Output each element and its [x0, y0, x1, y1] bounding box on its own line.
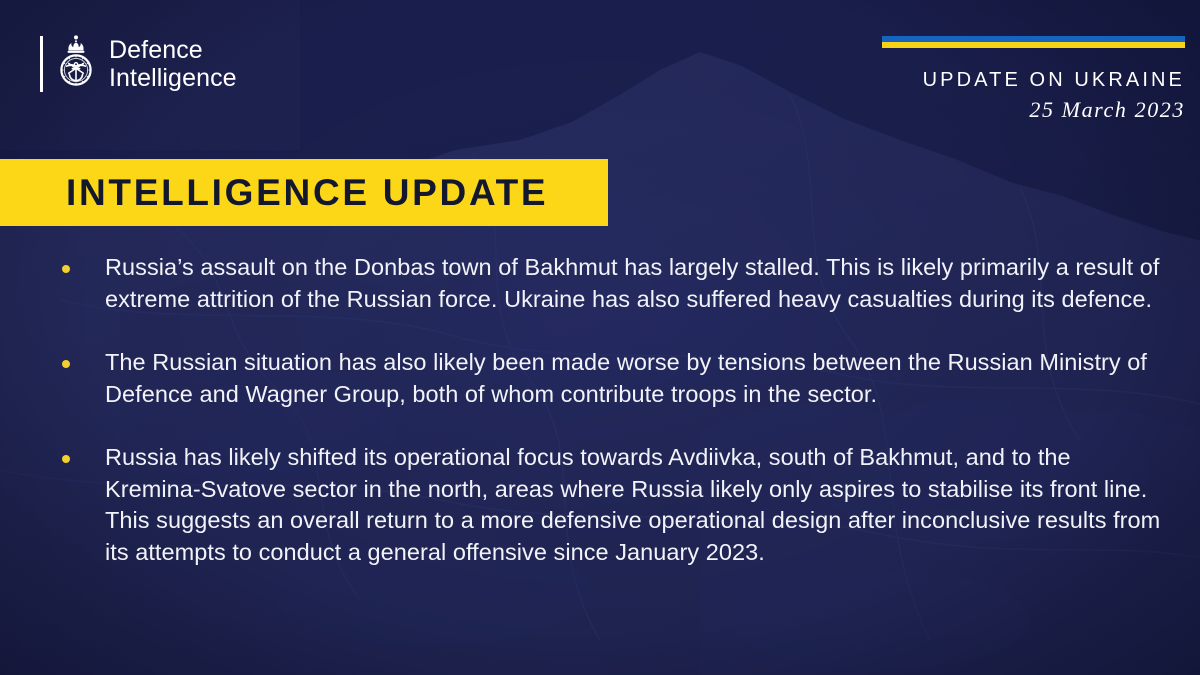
update-on-ukraine-title: UPDATE ON UKRAINE: [882, 68, 1185, 93]
header-right-block: UPDATE ON UKRAINE 25 March 2023: [882, 36, 1185, 125]
bullet-text: The Russian situation has also likely be…: [105, 347, 1168, 410]
list-item: Russia has likely shifted its operationa…: [62, 442, 1168, 568]
logo-wordmark: Defence Intelligence: [109, 36, 237, 93]
update-date: 25 March 2023: [882, 96, 1185, 125]
bullet-text: Russia has likely shifted its operationa…: [105, 442, 1168, 568]
bullet-text: Russia’s assault on the Donbas town of B…: [105, 252, 1168, 315]
logo-line-defence: Defence: [109, 36, 237, 64]
bullet-dot-icon: [62, 265, 70, 273]
list-item: Russia’s assault on the Donbas town of B…: [62, 252, 1168, 315]
bullet-dot-icon: [62, 360, 70, 368]
intelligence-update-banner: INTELLIGENCE UPDATE: [0, 159, 608, 226]
logo-line-intelligence: Intelligence: [109, 64, 237, 92]
ukraine-flag-bar: [882, 36, 1185, 48]
logo-divider-rule: [40, 36, 43, 92]
flag-stripe-yellow: [882, 42, 1185, 48]
poster-header: Defence Intelligence UPDATE ON UKRAINE 2…: [0, 0, 1200, 140]
intelligence-update-poster: Defence Intelligence UPDATE ON UKRAINE 2…: [0, 0, 1200, 675]
bullet-list: Russia’s assault on the Donbas town of B…: [62, 252, 1168, 568]
banner-title: INTELLIGENCE UPDATE: [0, 172, 548, 214]
list-item: The Russian situation has also likely be…: [62, 347, 1168, 410]
bullet-dot-icon: [62, 455, 70, 463]
mod-tri-service-crest-icon: [53, 34, 99, 94]
defence-intelligence-logo: Defence Intelligence: [40, 34, 237, 94]
